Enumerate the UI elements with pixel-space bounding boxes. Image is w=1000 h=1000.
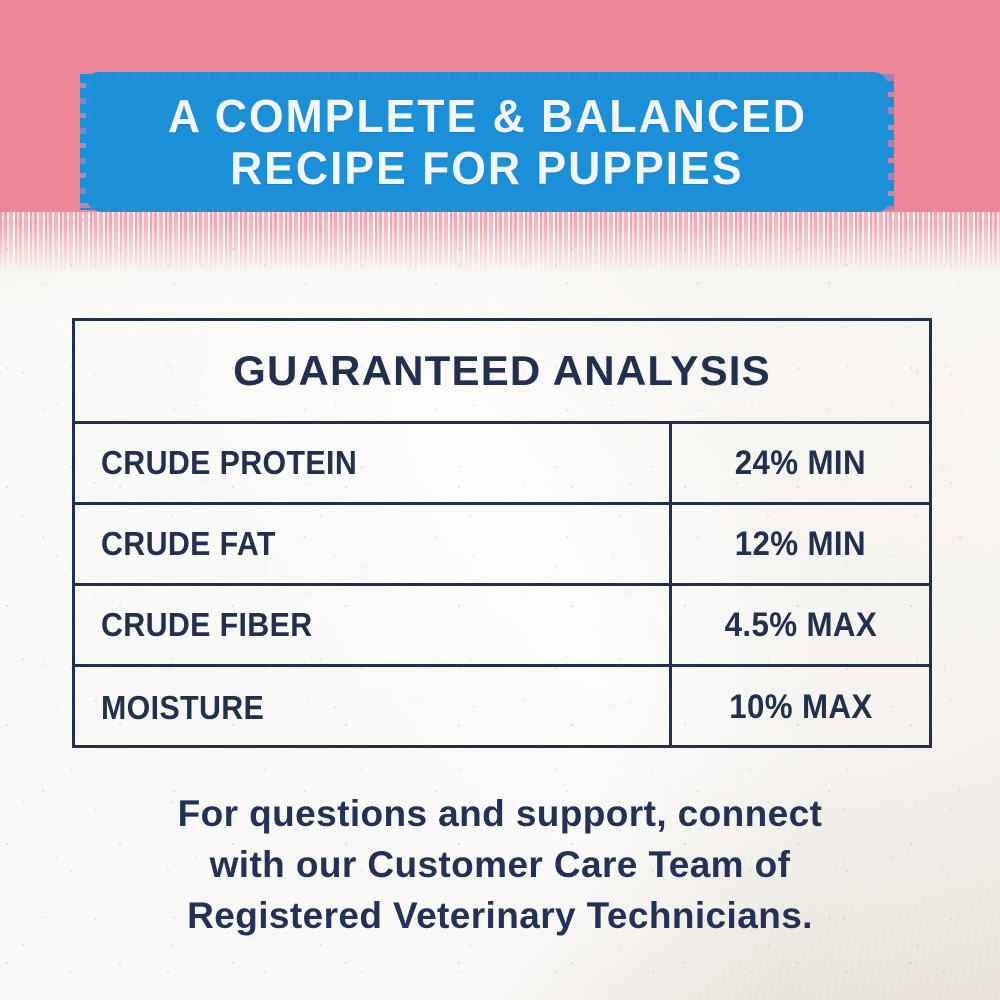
nutrient-name: CRUDE FIBER (101, 606, 313, 644)
nutrient-amount: 10% MAX (729, 688, 872, 727)
table-cell-value: 24% MIN (672, 424, 929, 502)
table-cell-label: MOISTURE (75, 667, 672, 748)
table-cell-label: CRUDE PROTEIN (75, 424, 672, 502)
table-row: CRUDE PROTEIN 24% MIN (75, 424, 929, 505)
support-line-3: Registered Veterinary Technicians. (187, 892, 813, 939)
table-cell-label: CRUDE FIBER (75, 586, 672, 664)
table-row: MOISTURE 10% MAX (75, 667, 929, 748)
table-title: GUARANTEED ANALYSIS (233, 347, 771, 395)
table-row: CRUDE FIBER 4.5% MAX (75, 586, 929, 667)
nutrient-name: MOISTURE (101, 689, 264, 727)
banner-line-2: RECIPE FOR PUPPIES (230, 143, 743, 193)
support-line-2: with our Customer Care Team of (210, 841, 791, 888)
support-line-1: For questions and support, connect (178, 790, 823, 837)
table-cell-value: 12% MIN (672, 505, 929, 583)
table-header: GUARANTEED ANALYSIS (75, 321, 929, 424)
guaranteed-analysis-table: GUARANTEED ANALYSIS CRUDE PROTEIN 24% MI… (72, 318, 932, 748)
product-info-panel: A COMPLETE & BALANCED RECIPE FOR PUPPIES… (0, 0, 1000, 1000)
table-cell-value: 4.5% MAX (672, 586, 929, 664)
nutrient-amount: 4.5% MAX (724, 606, 876, 645)
nutrient-name: CRUDE FAT (101, 525, 276, 563)
nutrient-amount: 24% MIN (735, 444, 866, 483)
table-cell-label: CRUDE FAT (75, 505, 672, 583)
nutrient-amount: 12% MIN (735, 525, 866, 564)
support-message: For questions and support, connect with … (0, 790, 1000, 939)
nutrient-name: CRUDE PROTEIN (101, 444, 357, 482)
headline-banner: A COMPLETE & BALANCED RECIPE FOR PUPPIES (86, 72, 888, 212)
banner-line-1: A COMPLETE & BALANCED (168, 91, 807, 141)
table-row: CRUDE FAT 12% MIN (75, 505, 929, 586)
table-cell-value: 10% MAX (672, 667, 929, 748)
banner-text-block: A COMPLETE & BALANCED RECIPE FOR PUPPIES (86, 72, 888, 212)
